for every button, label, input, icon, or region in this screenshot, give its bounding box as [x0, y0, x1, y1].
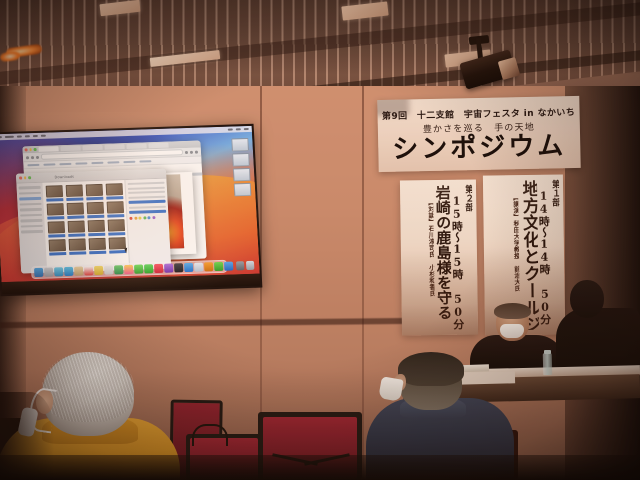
- file-thumbnail: [105, 183, 123, 196]
- finder-inspector-pane[interactable]: [124, 179, 171, 270]
- music-icon[interactable]: [154, 264, 163, 273]
- forward-icon[interactable]: [31, 156, 34, 159]
- desktop-icon[interactable]: [233, 168, 251, 182]
- finder-body: [16, 179, 171, 274]
- file-item[interactable]: [67, 220, 86, 237]
- sidebar-item[interactable]: [20, 208, 42, 211]
- ceiling: [0, 0, 640, 96]
- bookmark-item[interactable]: [91, 162, 103, 164]
- swatch-green[interactable]: [143, 216, 146, 219]
- file-thumbnail: [65, 184, 83, 197]
- file-label: [87, 215, 104, 219]
- battery-icon[interactable]: [236, 128, 241, 130]
- file-thumbnail: [47, 221, 65, 234]
- inspector-row: [128, 191, 165, 194]
- file-item[interactable]: [85, 184, 104, 201]
- projection-screen: Flickr — photo stream: [0, 124, 262, 296]
- file-item[interactable]: [45, 185, 64, 202]
- desktop-icon[interactable]: [231, 138, 249, 152]
- bookmark-item[interactable]: [139, 160, 151, 162]
- panel-topic: 岩崎の鹿島様を守る: [434, 185, 451, 330]
- podcasts-icon[interactable]: [164, 264, 173, 273]
- maps-icon[interactable]: [114, 265, 123, 274]
- minimize-icon[interactable]: [29, 148, 32, 151]
- reload-icon[interactable]: [36, 155, 39, 158]
- file-item[interactable]: [47, 221, 66, 238]
- calendar-icon[interactable]: [84, 266, 93, 275]
- bookmark-item[interactable]: [59, 163, 71, 165]
- file-thumbnail: [67, 220, 85, 233]
- file-label: [48, 234, 65, 238]
- file-label: [67, 215, 84, 219]
- calligraphy-panel-part-2: 第２部 15時～15時 50分 岩崎の鹿島様を守る 【対談】石川淳司氏 小杉和香…: [400, 179, 478, 335]
- projected-desktop: Flickr — photo stream: [0, 126, 260, 282]
- pages-icon[interactable]: [204, 262, 213, 271]
- sidebar-item[interactable]: [21, 230, 43, 233]
- file-label: [69, 251, 86, 255]
- menu-icon[interactable]: [195, 150, 198, 153]
- swatch-blue[interactable]: [147, 216, 150, 219]
- file-thumbnail: [48, 239, 66, 252]
- face-mask: [378, 376, 403, 401]
- file-label: [109, 250, 126, 254]
- color-swatches[interactable]: [129, 216, 166, 220]
- bookmark-item[interactable]: [27, 164, 39, 166]
- file-label: [108, 232, 125, 236]
- file-thumbnail: [46, 203, 64, 216]
- file-item[interactable]: [67, 238, 86, 255]
- profile-icon[interactable]: [190, 150, 193, 153]
- menu-window[interactable]: [41, 135, 46, 137]
- file-thumbnail: [66, 202, 84, 215]
- bookmark-item[interactable]: [43, 163, 55, 165]
- file-label: [107, 214, 124, 218]
- file-item[interactable]: [106, 201, 125, 218]
- finder-title-label: Downloads: [54, 174, 73, 179]
- sidebar-item[interactable]: [20, 213, 42, 216]
- file-item[interactable]: [66, 202, 85, 219]
- trash-icon[interactable]: [245, 261, 254, 270]
- file-label: [47, 216, 64, 220]
- file-item[interactable]: [106, 219, 125, 236]
- desktop-icon[interactable]: [234, 183, 252, 197]
- banner-event-line: 第9回 十二支館 宇宙フェスタ in なかいち: [382, 105, 575, 122]
- handbag[interactable]: [192, 424, 228, 446]
- file-label: [86, 197, 103, 201]
- sidebar-item[interactable]: [19, 191, 41, 194]
- keynote-icon[interactable]: [224, 262, 233, 271]
- back-icon[interactable]: [26, 156, 29, 159]
- menu-edit[interactable]: [25, 135, 30, 137]
- browser-tab[interactable]: [38, 147, 58, 152]
- facetime-icon[interactable]: [144, 264, 153, 273]
- inspector-row: [128, 195, 165, 198]
- panel-time: 15時～15時 50分: [451, 185, 464, 330]
- browser-tab[interactable]: [60, 146, 80, 151]
- settings-icon[interactable]: [235, 261, 244, 270]
- sidebar-item[interactable]: [20, 219, 42, 222]
- bookmark-icon[interactable]: [185, 150, 188, 153]
- file-label: [66, 197, 83, 201]
- numbers-icon[interactable]: [214, 262, 223, 271]
- symposium-banner: 第9回 十二支館 宇宙フェスタ in なかいち 豊かさを巡る 手の天地 シンポジ…: [377, 96, 580, 172]
- finder-window[interactable]: Downloads: [16, 169, 171, 274]
- file-item[interactable]: [47, 239, 66, 256]
- swatch-yellow[interactable]: [138, 217, 141, 220]
- bottle-cap: [544, 350, 551, 354]
- water-bottle: [543, 353, 553, 375]
- file-label: [68, 233, 85, 237]
- file-thumbnail: [88, 238, 106, 251]
- inspector-slider[interactable]: [129, 210, 166, 214]
- inspector-row: [128, 182, 165, 185]
- finder-file-grid[interactable]: [42, 180, 129, 273]
- file-label: [106, 196, 123, 200]
- file-thumbnail: [106, 201, 124, 214]
- file-item[interactable]: [65, 184, 84, 201]
- bookmark-item[interactable]: [123, 161, 135, 163]
- menu-file[interactable]: [17, 135, 22, 137]
- file-label: [89, 251, 106, 255]
- panelist-hair: [494, 303, 531, 319]
- file-item[interactable]: [46, 203, 65, 220]
- maximize-icon[interactable]: [34, 148, 37, 151]
- file-label: [49, 252, 66, 256]
- sidebar-item[interactable]: [21, 224, 43, 227]
- file-thumbnail: [68, 238, 86, 251]
- contacts-icon[interactable]: [74, 267, 83, 276]
- close-icon[interactable]: [25, 149, 28, 152]
- preview-icon[interactable]: [194, 263, 203, 272]
- file-thumbnail: [108, 237, 126, 250]
- tv-icon[interactable]: [174, 263, 183, 272]
- maximize-icon[interactable]: [28, 176, 31, 179]
- file-thumbnail: [45, 185, 63, 198]
- menu-app-name[interactable]: [5, 136, 14, 138]
- browser-tab[interactable]: [148, 143, 168, 148]
- file-thumbnail: [107, 219, 125, 232]
- wall-seam: [362, 86, 364, 480]
- file-label: [88, 233, 105, 237]
- sidebar-item-selected[interactable]: [19, 197, 41, 200]
- mail-icon[interactable]: [64, 267, 73, 276]
- file-item[interactable]: [86, 202, 105, 219]
- clock-text[interactable]: [244, 128, 249, 130]
- wifi-icon[interactable]: [228, 128, 233, 130]
- inspector-slider[interactable]: [129, 200, 166, 204]
- face-mask: [500, 324, 524, 338]
- menu-view[interactable]: [33, 135, 38, 137]
- file-item[interactable]: [87, 220, 106, 237]
- bookmark-item[interactable]: [75, 162, 87, 164]
- sidebar-item[interactable]: [19, 202, 41, 205]
- file-label: [46, 198, 63, 202]
- notes-icon[interactable]: [94, 266, 103, 275]
- panelist-head: [570, 280, 604, 318]
- safari-icon[interactable]: [54, 267, 63, 276]
- finder-icon[interactable]: [34, 268, 43, 277]
- close-icon[interactable]: [19, 177, 22, 180]
- file-item[interactable]: [87, 238, 106, 255]
- swatch-red[interactable]: [129, 217, 132, 220]
- sidebar-item[interactable]: [19, 186, 41, 189]
- minimize-icon[interactable]: [24, 177, 27, 180]
- browser-tab[interactable]: [82, 145, 102, 150]
- reminders-icon[interactable]: [104, 266, 113, 275]
- launchpad-icon[interactable]: [44, 268, 53, 277]
- symposium-photo: Flickr — photo stream: [0, 0, 640, 480]
- desktop-icon[interactable]: [232, 153, 250, 167]
- banner-main-title: シンポジウム: [392, 133, 567, 163]
- file-thumbnail: [86, 202, 104, 215]
- swatch-orange[interactable]: [134, 217, 137, 220]
- photos-icon[interactable]: [124, 265, 133, 274]
- browser-tab[interactable]: [104, 144, 124, 149]
- file-thumbnail: [87, 220, 105, 233]
- inspector-row: [129, 205, 166, 208]
- file-thumbnail: [85, 184, 103, 197]
- person-hair: [398, 352, 464, 386]
- inspector-row: [128, 186, 165, 189]
- messages-icon[interactable]: [134, 265, 143, 274]
- floor: [0, 455, 640, 480]
- file-item[interactable]: [107, 237, 126, 254]
- apple-menu-icon[interactable]: [0, 136, 2, 138]
- person-hair: [42, 352, 134, 422]
- browser-tab[interactable]: [126, 144, 146, 149]
- appstore-icon[interactable]: [184, 263, 193, 272]
- swatch-purple[interactable]: [152, 216, 155, 219]
- bookmark-item[interactable]: [107, 161, 119, 163]
- file-item[interactable]: [105, 183, 124, 200]
